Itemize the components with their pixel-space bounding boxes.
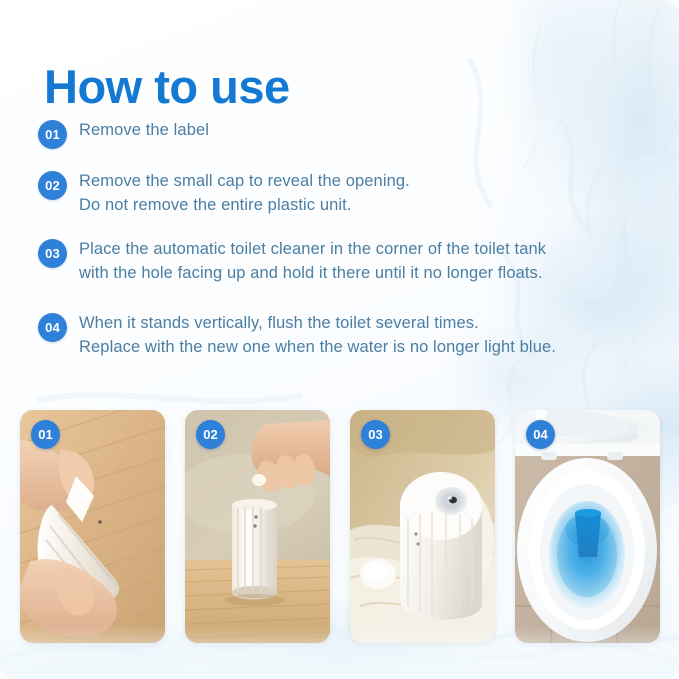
step-item: 04 When it stands vertically, flush the …	[38, 311, 658, 359]
steps-list: 01 Remove the label 02 Remove the small …	[38, 118, 658, 379]
step-item: 02 Remove the small cap to reveal the op…	[38, 169, 658, 217]
step-text-02: Remove the small cap to reveal the openi…	[79, 169, 410, 217]
page-title: How to use	[44, 61, 290, 113]
step-item: 03 Place the automatic toilet cleaner in…	[38, 237, 658, 285]
photo-card-01[interactable]: 01	[20, 410, 165, 643]
step-line: Do not remove the entire plastic unit.	[79, 193, 410, 217]
how-to-use-panel: How to use 01 Remove the label 02 Remove…	[0, 0, 679, 679]
card-badge-04: 04	[526, 420, 555, 449]
step-badge-04: 04	[38, 313, 67, 342]
step-text-01: Remove the label	[79, 118, 209, 142]
step-item: 01 Remove the label	[38, 118, 658, 149]
step-text-04: When it stands vertically, flush the toi…	[79, 311, 556, 359]
step-line: with the hole facing up and hold it ther…	[79, 261, 546, 285]
photo-card-04[interactable]: 04	[515, 410, 660, 643]
step-text-03: Place the automatic toilet cleaner in th…	[79, 237, 546, 285]
step-line: Remove the label	[79, 118, 209, 142]
photo-card-03[interactable]: 03	[350, 410, 495, 643]
card-badge-01: 01	[31, 420, 60, 449]
step-badge-03: 03	[38, 239, 67, 268]
step-badge-02: 02	[38, 171, 67, 200]
step-line: When it stands vertically, flush the toi…	[79, 311, 556, 335]
step-line: Remove the small cap to reveal the openi…	[79, 169, 410, 193]
step-badge-01: 01	[38, 120, 67, 149]
step-line: Place the automatic toilet cleaner in th…	[79, 237, 546, 261]
card-badge-03: 03	[361, 420, 390, 449]
step-line: Replace with the new one when the water …	[79, 335, 556, 359]
photo-card-row: 01	[20, 410, 660, 643]
card-badge-02: 02	[196, 420, 225, 449]
photo-card-02[interactable]: 02	[185, 410, 330, 643]
